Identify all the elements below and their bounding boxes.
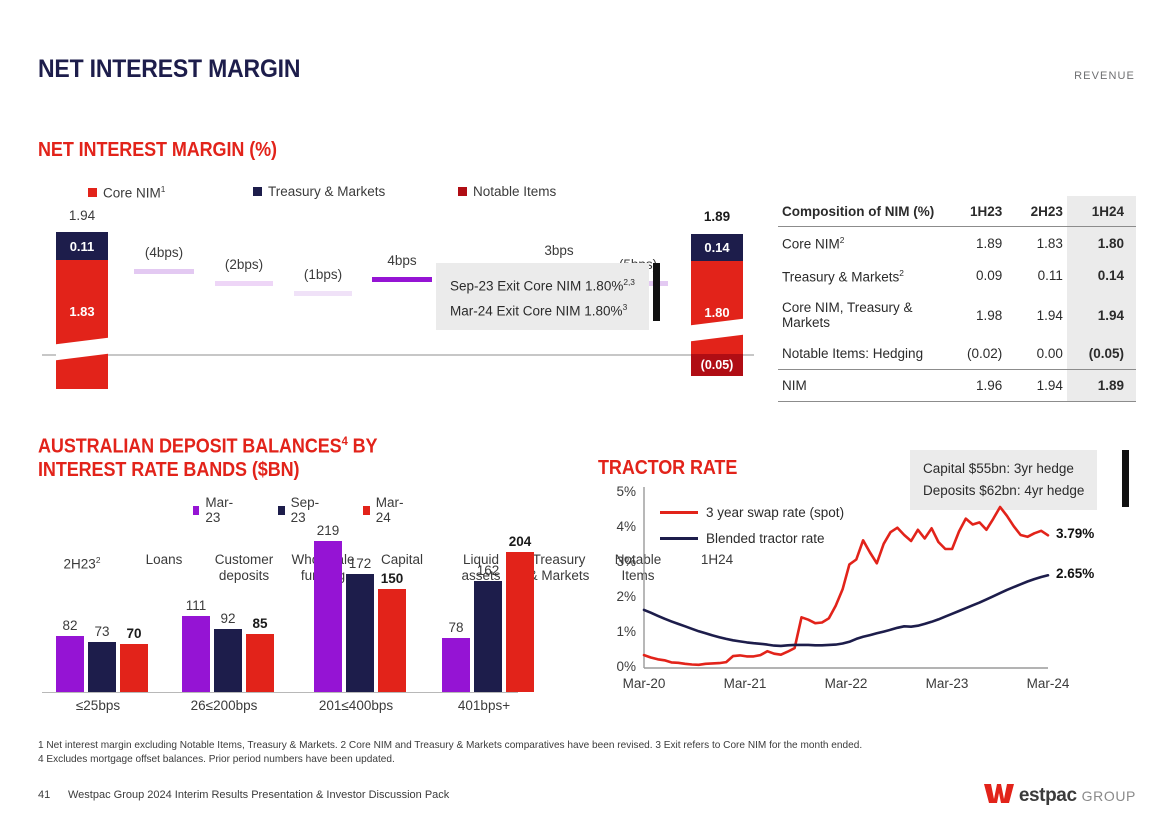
tractor-x-tick: Mar-24	[1008, 676, 1088, 691]
section-tag: REVENUE	[1074, 70, 1135, 82]
table-row-label: Treasury & Markets2	[778, 260, 945, 293]
waterfall-callout-accent-bar	[653, 263, 660, 321]
table-column-header: Composition of NIM (%)	[778, 196, 945, 227]
tractor-y-tick: 3%	[600, 554, 636, 569]
tractor-x-tick: Mar-23	[907, 676, 987, 691]
table-row-label: Core NIM2	[778, 227, 945, 260]
table-cell: 0.14	[1067, 260, 1136, 293]
deposits-bar-value: 162	[465, 563, 511, 578]
deposits-bar-value: 150	[369, 571, 415, 586]
waterfall-legend-item: Treasury & Markets	[253, 184, 385, 199]
tractor-line-series	[644, 507, 1048, 665]
legend-label: Mar-24	[376, 495, 406, 525]
page-title: NET INTEREST MARGIN	[38, 55, 300, 84]
waterfall-segment-notable-items: (0.05)	[691, 354, 743, 376]
legend-swatch-icon	[458, 187, 467, 196]
waterfall-delta-label: 4bps	[363, 253, 441, 268]
table-row-label: Notable Items: Hedging	[778, 338, 945, 370]
waterfall-connector	[134, 269, 194, 274]
waterfall-delta-label: (4bps)	[125, 245, 203, 260]
table-row-label: NIM	[778, 370, 945, 402]
legend-label: Notable Items	[473, 184, 556, 199]
table-rule-cell	[1067, 401, 1136, 402]
waterfall-stack: 0.111.83	[56, 232, 108, 389]
deposits-bar-value: 78	[433, 620, 479, 635]
deposits-bar-group: 1119285	[182, 527, 274, 692]
table-total-row: NIM1.961.941.89	[778, 370, 1136, 402]
deposits-legend-item: Sep-23	[278, 495, 322, 525]
deposits-bar	[214, 629, 242, 692]
waterfall-connector	[215, 281, 273, 286]
table-column-header: 2H23	[1006, 196, 1067, 227]
legend-swatch-icon	[193, 506, 199, 515]
deposits-x-label: 201≤400bps	[286, 698, 426, 713]
table-cell: 1.94	[1067, 292, 1136, 338]
tractor-x-tick: Mar-20	[604, 676, 684, 691]
deposits-bar-value: 85	[237, 616, 283, 631]
waterfall-segment-treasury: 0.11	[56, 232, 108, 260]
footnote-line-2: 4 Excludes mortgage offset balances. Pri…	[38, 752, 1075, 766]
deposits-bar	[442, 638, 470, 692]
waterfall-segment-treasury: 0.14	[691, 234, 743, 261]
waterfall-legend-item: Notable Items	[458, 184, 556, 199]
table-cell: 1.94	[1006, 292, 1067, 338]
table-cell: 0.09	[945, 260, 1006, 293]
legend-swatch-icon	[278, 506, 284, 515]
table-rule-cell	[1006, 401, 1067, 402]
table-cell: 0.11	[1006, 260, 1067, 293]
legend-swatch-icon	[88, 188, 97, 197]
waterfall-bar-delta: (1bps)	[284, 215, 362, 355]
deposits-bar	[88, 642, 116, 692]
table-bottom-rule	[778, 401, 1136, 402]
table-column-header: 1H24	[1067, 196, 1136, 227]
tractor-end-label: 3.79%	[1056, 526, 1094, 541]
table-cell: 1.83	[1006, 227, 1067, 260]
tractor-y-tick: 5%	[600, 484, 636, 499]
deposits-bar	[56, 636, 84, 692]
tractor-end-label: 2.65%	[1056, 566, 1094, 581]
table-cell: 1.94	[1006, 370, 1067, 402]
deposits-x-label: ≤25bps	[28, 698, 168, 713]
table-row: Core NIM21.891.831.80	[778, 227, 1136, 260]
table-row: Notable Items: Hedging(0.02)0.00(0.05)	[778, 338, 1136, 370]
table-cell: (0.05)	[1067, 338, 1136, 370]
legend-swatch-icon	[253, 187, 262, 196]
tractor-x-tick: Mar-22	[806, 676, 886, 691]
table-rule-cell	[945, 401, 1006, 402]
table-cell: 0.00	[1006, 338, 1067, 370]
nim-chart-heading: NET INTEREST MARGIN (%)	[38, 139, 277, 162]
waterfall-connector	[372, 277, 432, 282]
logo-wordmark: estpac	[1019, 785, 1077, 807]
deposits-legend-item: Mar-23	[193, 495, 236, 525]
legend-label: Sep-23	[291, 495, 322, 525]
deposits-bar-group: 827370	[56, 527, 148, 692]
deposits-axis-line	[42, 692, 518, 693]
waterfall-connector	[294, 291, 352, 296]
waterfall-legend: Core NIM1Treasury & MarketsNotable Items	[88, 184, 708, 202]
waterfall-callout: Sep-23 Exit Core NIM 1.80%2,3Mar-24 Exit…	[436, 263, 649, 330]
table-row: Core NIM, Treasury & Markets1.981.941.94	[778, 292, 1136, 338]
deposits-bar	[120, 644, 148, 692]
westpac-logo: estpac GROUP	[984, 782, 1136, 809]
deposits-x-label: 401bps+	[414, 698, 554, 713]
footnotes: 1 Net interest margin excluding Notable …	[38, 738, 1075, 766]
deposits-bar-value: 172	[337, 556, 383, 571]
deposits-bar	[346, 574, 374, 692]
legend-swatch-icon	[363, 506, 369, 515]
nim-composition-table: Composition of NIM (%)1H232H231H24 Core …	[778, 196, 1136, 402]
deposits-bar-group: 219172150	[314, 527, 406, 692]
deposits-bar	[506, 552, 534, 692]
deposits-plot: 827370111928521917215078162204	[42, 527, 518, 692]
footnote-line-1: 1 Net interest margin excluding Notable …	[38, 738, 1075, 752]
callout-line: Mar-24 Exit Core NIM 1.80%3	[450, 297, 635, 322]
table-body: Core NIM21.891.831.80Treasury & Markets2…	[778, 227, 1136, 402]
footer-text: Westpac Group 2024 Interim Results Prese…	[68, 789, 449, 801]
deposits-legend-item: Mar-24	[363, 495, 406, 525]
deposits-bar-group: 78162204	[442, 527, 534, 692]
waterfall-bar-delta: 4bps	[363, 215, 441, 355]
table-cell: 1.89	[1067, 370, 1136, 402]
waterfall-bar-delta: (2bps)	[205, 215, 283, 355]
table-cell: 1.80	[1067, 227, 1136, 260]
tractor-rate-chart: Capital $55bn: 3yr hedgeDeposits $62bn: …	[598, 455, 1138, 730]
deposits-bar-value: 204	[497, 534, 543, 549]
deposits-bar-value: 219	[305, 523, 351, 538]
table-rule-cell	[778, 401, 945, 402]
waterfall-stack: 0.141.80	[691, 234, 743, 354]
tractor-line-series	[644, 575, 1048, 646]
table-column-header: 1H23	[945, 196, 1006, 227]
table-cell: 1.89	[945, 227, 1006, 260]
waterfall-bar-end: 1.890.141.80(0.05)	[678, 215, 756, 355]
tractor-y-tick: 2%	[600, 589, 636, 604]
deposits-chart-heading: AUSTRALIAN DEPOSIT BALANCES4 BYINTEREST …	[38, 430, 416, 482]
table-cell: (0.02)	[945, 338, 1006, 370]
legend-label: Treasury & Markets	[268, 184, 385, 199]
legend-label: Core NIM1	[103, 184, 165, 201]
waterfall-segment-core-nim: 1.83	[56, 260, 108, 389]
deposits-bar	[246, 634, 274, 692]
table-cell: 1.96	[945, 370, 1006, 402]
table-row-label: Core NIM, Treasury & Markets	[778, 292, 945, 338]
page-number: 41	[38, 789, 50, 801]
deposits-bar-value: 70	[111, 626, 157, 641]
tractor-x-tick: Mar-21	[705, 676, 785, 691]
tractor-y-tick: 4%	[600, 519, 636, 534]
waterfall-delta-label: (2bps)	[205, 257, 283, 272]
nim-waterfall-chart: Core NIM1Treasury & MarketsNotable Items…	[38, 180, 758, 410]
slide: NET INTEREST MARGIN REVENUE NET INTEREST…	[0, 0, 1168, 825]
waterfall-delta-label: (1bps)	[284, 267, 362, 282]
table-header-row: Composition of NIM (%)1H232H231H24	[778, 196, 1136, 227]
deposits-x-label: 26≤200bps	[154, 698, 294, 713]
waterfall-legend-item: Core NIM1	[88, 184, 165, 201]
legend-label: Mar-23	[205, 495, 235, 525]
table-row: Treasury & Markets20.090.110.14	[778, 260, 1136, 293]
table-cell: 1.98	[945, 292, 1006, 338]
deposits-bar	[378, 589, 406, 692]
deposit-balances-chart: Mar-23Sep-23Mar-24 827370111928521917215…	[38, 495, 538, 725]
waterfall-bar-start: 1.940.111.83	[43, 215, 121, 355]
westpac-w-icon	[984, 782, 1014, 809]
tractor-y-tick: 1%	[600, 624, 636, 639]
callout-line: Sep-23 Exit Core NIM 1.80%2,3	[450, 272, 635, 297]
waterfall-delta-label: 3bps	[520, 243, 598, 258]
deposits-bar	[474, 581, 502, 692]
waterfall-total-label: 1.89	[678, 209, 756, 224]
tractor-y-tick: 0%	[600, 659, 636, 674]
waterfall-total-label: 1.94	[43, 208, 121, 223]
logo-group-text: GROUP	[1082, 788, 1136, 804]
waterfall-bar-delta: (4bps)	[125, 215, 203, 355]
deposits-bar	[182, 616, 210, 692]
